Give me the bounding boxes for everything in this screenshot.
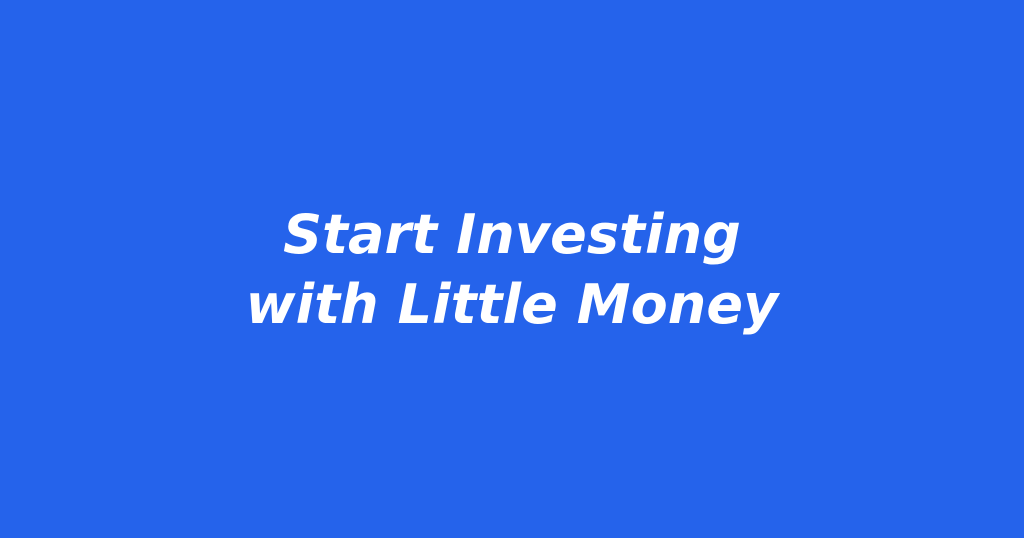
headline-line-2: with Little Money [246, 270, 779, 340]
headline-line-1: Start Investing [283, 200, 741, 270]
headline-block: Start Investing with Little Money [0, 200, 1024, 340]
slide-canvas: Start Investing with Little Money [0, 0, 1024, 538]
